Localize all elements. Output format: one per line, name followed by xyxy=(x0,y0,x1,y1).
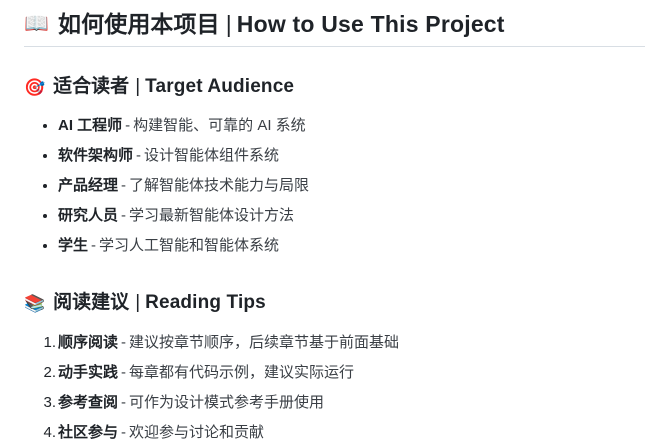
list-item-description: 欢迎参与讨论和贡献 xyxy=(129,424,264,441)
section-heading-target-audience: 🎯 适合读者 | Target Audience xyxy=(24,74,645,100)
list-item: 软件架构师-设计智能体组件系统 xyxy=(58,141,645,171)
list-item-description: 学习最新智能体设计方法 xyxy=(129,207,294,224)
list-item-dash: - xyxy=(121,177,126,194)
target-audience-list: AI 工程师-构建智能、可靠的 AI 系统 软件架构师-设计智能体组件系统 产品… xyxy=(24,111,645,261)
list-item-term: 参考查阅 xyxy=(58,394,118,411)
list-item-term: 社区参与 xyxy=(58,424,118,441)
list-item-description: 可作为设计模式参考手册使用 xyxy=(129,394,324,411)
list-item-term: 研究人员 xyxy=(58,207,118,224)
section-heading-english: Reading Tips xyxy=(145,290,266,316)
list-item-dash: - xyxy=(121,394,126,411)
list-item: 学生-学习人工智能和智能体系统 xyxy=(58,231,645,261)
list-item: 研究人员-学习最新智能体设计方法 xyxy=(58,201,645,231)
page-title: 📖 如何使用本项目 | How to Use This Project xyxy=(24,0,645,46)
list-item-description: 了解智能体技术能力与局限 xyxy=(129,177,309,194)
list-item-description: 学习人工智能和智能体系统 xyxy=(99,237,279,254)
page-title-chinese: 如何使用本项目 xyxy=(58,9,220,39)
section-heading-separator: | xyxy=(135,290,140,316)
page-title-separator: | xyxy=(226,9,232,39)
list-item: 产品经理-了解智能体技术能力与局限 xyxy=(58,171,645,201)
list-item-dash: - xyxy=(121,364,126,381)
list-item-term: 产品经理 xyxy=(58,177,118,194)
list-item-term: 动手实践 xyxy=(58,364,118,381)
list-item-dash: - xyxy=(121,334,126,351)
section-heading-chinese: 阅读建议 xyxy=(53,290,129,316)
list-item-dash: - xyxy=(125,117,130,134)
open-book-icon: 📖 xyxy=(24,14,49,34)
dart-target-icon: 🎯 xyxy=(24,79,45,96)
section-heading-reading-tips: 📚 阅读建议 | Reading Tips xyxy=(24,290,645,316)
list-item-description: 建议按章节顺序，后续章节基于前面基础 xyxy=(129,334,399,351)
page-title-english: How to Use This Project xyxy=(237,9,505,39)
section-heading-english: Target Audience xyxy=(145,74,294,100)
list-item-description: 每章都有代码示例，建议实际运行 xyxy=(129,364,354,381)
list-item-term: AI 工程师 xyxy=(58,117,122,134)
list-item-description: 设计智能体组件系统 xyxy=(144,147,279,164)
list-item: 动手实践-每章都有代码示例，建议实际运行 xyxy=(58,358,645,388)
list-item: 参考查阅-可作为设计模式参考手册使用 xyxy=(58,388,645,418)
title-divider xyxy=(24,46,645,47)
list-item-dash: - xyxy=(121,424,126,441)
list-item-term: 学生 xyxy=(58,237,88,254)
list-item-dash: - xyxy=(121,207,126,224)
books-stack-icon: 📚 xyxy=(24,295,45,312)
list-item-dash: - xyxy=(91,237,96,254)
section-heading-chinese: 适合读者 xyxy=(53,74,129,100)
list-item-term: 软件架构师 xyxy=(58,147,133,164)
section-heading-separator: | xyxy=(135,74,140,100)
document-body: 📖 如何使用本项目 | How to Use This Project 🎯 适合… xyxy=(0,0,665,439)
list-item: 顺序阅读-建议按章节顺序，后续章节基于前面基础 xyxy=(58,328,645,358)
list-item-dash: - xyxy=(136,147,141,164)
list-item: 社区参与-欢迎参与讨论和贡献 xyxy=(58,418,645,448)
reading-tips-list: 顺序阅读-建议按章节顺序，后续章节基于前面基础 动手实践-每章都有代码示例，建议… xyxy=(24,328,645,448)
list-item-description: 构建智能、可靠的 AI 系统 xyxy=(133,117,306,134)
list-item: AI 工程师-构建智能、可靠的 AI 系统 xyxy=(58,111,645,141)
list-item-term: 顺序阅读 xyxy=(58,334,118,351)
